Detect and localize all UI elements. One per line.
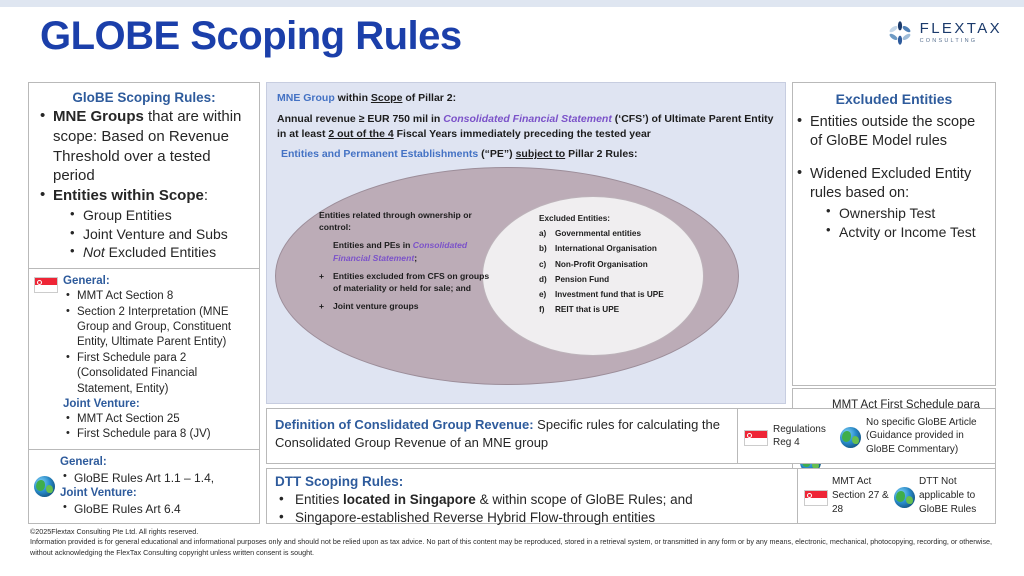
center-line-1-mid: within (335, 92, 371, 104)
slide-root: GLOBE Scoping Rules FLEXTAX CONSULTING G… (0, 0, 1024, 576)
center-line-1-underline: Scope (371, 92, 403, 104)
center-line-2-c: Fiscal Years immediately preceding the t… (394, 128, 651, 140)
definition-main: Definition of Conslidated Group Revenue:… (267, 409, 737, 463)
globe-icon (894, 487, 915, 508)
definition-title: Definition of Conslidated Group Revenue: (275, 417, 534, 432)
footer-disclaimer: Information provided is for general educ… (30, 537, 1015, 558)
definition-row: Definition of Conslidated Group Revenue:… (266, 408, 996, 464)
excluded-entity-e: e)Investment fund that is UPE (539, 287, 704, 302)
footer-copyright: ©2025Flextax Consulting Pte Ltd. All rig… (30, 527, 1015, 537)
logo-subtitle: CONSULTING (920, 39, 1002, 45)
venn-left-indent-b: ; (414, 253, 417, 263)
left-sg-item-2: Section 2 Interpretation (MNE Group and … (63, 305, 253, 351)
venn-right-title: Excluded Entities: (539, 211, 704, 226)
singapore-flag-icon (804, 490, 828, 506)
center-line-2-a: Annual revenue ≥ EUR 750 mil in (277, 113, 443, 125)
left-sg-jv-item-2: First Schedule para 8 (JV) (63, 427, 253, 442)
center-line-2: Annual revenue ≥ EUR 750 mil in Consolid… (277, 112, 775, 142)
excluded-entity-c-label: c) (539, 257, 546, 272)
left-sg-jv-item-1: MMT Act Section 25 (63, 412, 253, 427)
venn-left-indent-a: Entities and PEs in (333, 240, 413, 250)
right-panel-heading: Excluded Entities (793, 83, 995, 113)
flextax-logo: FLEXTAX CONSULTING (887, 20, 1002, 46)
dtt-main: DTT Scoping Rules: Entities located in S… (267, 469, 797, 523)
venn-left-text: Entities related through ownership or co… (319, 209, 491, 312)
excluded-entity-e-label: e) (539, 287, 546, 302)
excluded-entity-f: f)REIT that is UPE (539, 302, 704, 317)
venn-left-plus-1: Entities excluded from CFS on groups of … (319, 270, 491, 294)
dtt-heading: DTT Scoping Rules: (275, 474, 791, 491)
left-sg-reference: General: MMT Act Section 8 Section 2 Int… (29, 269, 259, 449)
dtt-citations: MMT Act Section 27 & 28 DTT Not applicab… (797, 469, 995, 523)
footer: ©2025Flextax Consulting Pte Ltd. All rig… (30, 527, 1015, 558)
left-bullet-2-bold: Entities within Scope (53, 187, 204, 204)
right-subbullet-1: Ownership Test (793, 204, 995, 222)
dtt-sg-ref-text: MMT Act Section 27 & 28 (832, 475, 890, 517)
excluded-entity-d-label: d) (539, 272, 547, 287)
left-sg-item-1: MMT Act Section 8 (63, 289, 253, 304)
dtt-bullet-2: Singapore-established Reverse Hybrid Flo… (275, 509, 791, 527)
top-accent-strip (0, 0, 1024, 7)
left-subbullet-3: Not Excluded Entities (37, 243, 251, 262)
center-panel: MNE Group within Scope of Pillar 2: Annu… (266, 82, 786, 404)
left-globe-jv-item-1: GloBE Rules Art 6.4 (60, 501, 253, 517)
excluded-entity-b-text: International Organisation (555, 244, 657, 253)
right-subbullet-2: Actvity or Income Test (793, 223, 995, 241)
left-bullet-2-rest: : (204, 187, 208, 204)
left-sg-heading-jv: Joint Venture: (63, 397, 253, 412)
definition-text: Definition of Conslidated Group Revenue:… (275, 416, 729, 452)
center-line-2-purple: Consolidated Financial Statement (443, 113, 612, 125)
excluded-entity-d: d)Pension Fund (539, 272, 704, 287)
flextax-mark-icon (887, 20, 913, 46)
venn-left-title: Entities related through ownership or co… (319, 209, 491, 233)
dtt-globe-ref-text: DTT Not applicable to GloBE Rules (919, 475, 991, 517)
excluded-entity-e-text: Investment fund that is UPE (555, 290, 664, 299)
left-globe-ref-body: General: GloBE Rules Art 1.1 – 1.4, Join… (60, 455, 253, 517)
definition-citations: Regulations Reg 4 No specific GloBE Arti… (737, 409, 995, 463)
venn-right-text: Excluded Entities: a)Governmental entiti… (539, 211, 704, 317)
singapore-flag-icon (34, 277, 58, 293)
left-sg-item-3: First Schedule para 2 (Consolidated Fina… (63, 351, 253, 397)
left-sg-ref-body: General: MMT Act Section 8 Section 2 Int… (63, 274, 253, 443)
excluded-entity-a-label: a) (539, 226, 546, 241)
venn-diagram: Entities related through ownership or co… (267, 151, 787, 403)
globe-icon (34, 476, 55, 497)
dtt-row: DTT Scoping Rules: Entities located in S… (266, 468, 996, 524)
definition-globe-ref-text: No specific GloBE Article (Guidance prov… (866, 416, 991, 456)
left-bullet-1-bold: MNE Groups (53, 108, 144, 125)
center-line-1-end: of Pillar 2: (402, 92, 456, 104)
left-globe-heading-jv: Joint Venture: (60, 486, 253, 501)
left-panel-heading: GloBE Scoping Rules: (37, 90, 251, 105)
left-panel: GloBE Scoping Rules: MNE Groups that are… (28, 82, 260, 524)
dtt-bullet-1-a: Entities (295, 492, 343, 507)
left-bullet-1: MNE Groups that are within scope: Based … (37, 107, 251, 186)
logo-name: FLEXTAX (920, 21, 1002, 36)
singapore-flag-icon (744, 430, 768, 446)
excluded-entity-f-text: REIT that is UPE (555, 305, 619, 314)
left-globe-item-1: GloBE Rules Art 1.1 – 1.4, (60, 470, 253, 486)
right-panel: Excluded Entities Entities outside the s… (792, 82, 996, 386)
center-line-1-blue: MNE Group (277, 92, 335, 104)
excluded-entity-a-text: Governmental entities (555, 229, 641, 238)
venn-left-plus-2: Joint venture groups (319, 300, 491, 312)
left-globe-heading-general: General: (60, 455, 253, 470)
excluded-entity-b-label: b) (539, 241, 547, 256)
left-sg-heading-general: General: (63, 274, 253, 289)
excluded-entity-d-text: Pension Fund (555, 275, 609, 284)
excluded-entity-b: b)International Organisation (539, 241, 704, 256)
content-board: GloBE Scoping Rules: MNE Groups that are… (28, 82, 996, 524)
excluded-entity-f-label: f) (539, 302, 544, 317)
left-bullet-2: Entities within Scope: (37, 186, 251, 206)
dtt-bullet-1-b: & within scope of GloBE Rules; and (476, 492, 693, 507)
definition-sg-ref-text: Regulations Reg 4 (773, 423, 835, 449)
page-title: GLOBE Scoping Rules (40, 14, 462, 58)
center-line-1: MNE Group within Scope of Pillar 2: (277, 91, 775, 107)
venn-left-indent: Entities and PEs in Consolidated Financi… (319, 239, 491, 263)
excluded-entity-a: a)Governmental entities (539, 226, 704, 241)
excluded-entity-c: c)Non-Profit Organisation (539, 257, 704, 272)
right-bullet-1: Entities outside the scope of GloBE Mode… (793, 113, 995, 151)
center-line-2-underline: 2 out of the 4 (328, 128, 393, 140)
excluded-entity-c-text: Non-Profit Organisation (555, 260, 648, 269)
right-bullet-2: Widened Excluded Entity rules based on: (793, 165, 995, 203)
globe-icon (840, 427, 861, 448)
left-globe-reference: General: GloBE Rules Art 1.1 – 1.4, Join… (29, 450, 259, 523)
left-panel-main: GloBE Scoping Rules: MNE Groups that are… (29, 83, 259, 268)
left-subbullet-1: Group Entities (37, 206, 251, 225)
left-subbullet-2: Joint Venture and Subs (37, 225, 251, 244)
dtt-bullet-1: Entities located in Singapore & within s… (275, 491, 791, 509)
dtt-bullet-1-bold: located in Singapore (343, 492, 476, 507)
